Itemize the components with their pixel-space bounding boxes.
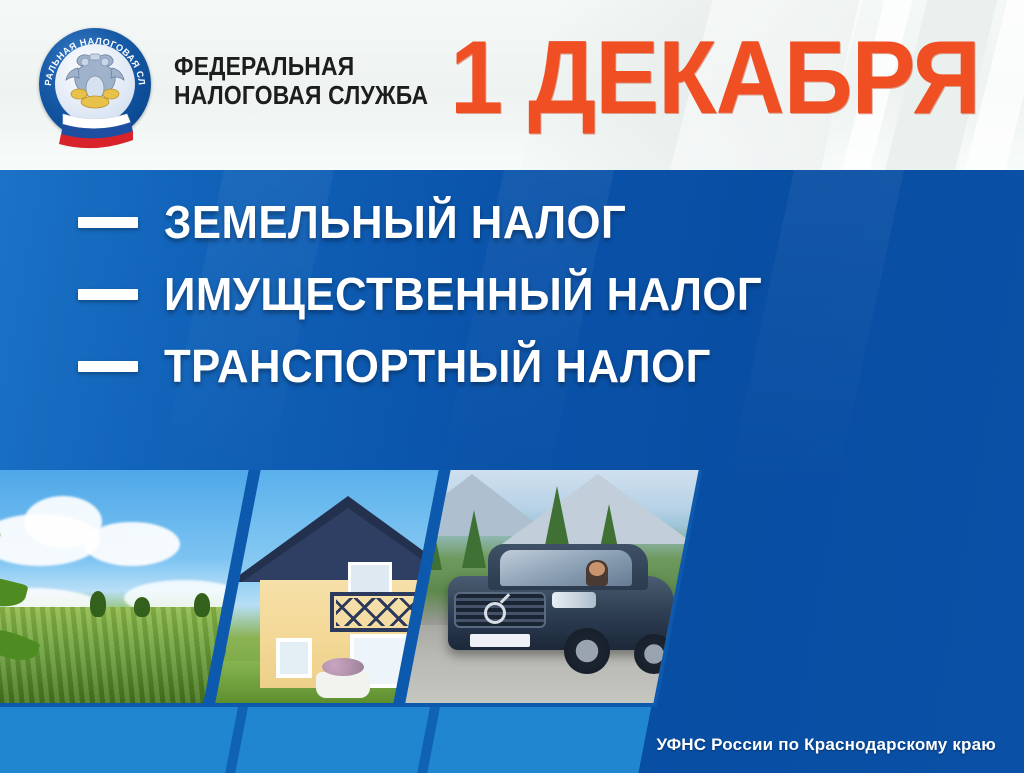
suv-icon — [448, 542, 678, 668]
tax-deadline-poster: ФЕДЕРАЛЬНАЯ НАЛОГОВАЯ СЛУЖБА — [0, 0, 1024, 773]
driver-icon — [586, 560, 608, 586]
dash-icon — [78, 361, 138, 372]
agency-name-line1: ФЕДЕРАЛЬНАЯ — [174, 52, 428, 81]
footer-note: УФНС России по Краснодарскому краю — [656, 735, 996, 755]
agency-name: ФЕДЕРАЛЬНАЯ НАЛОГОВАЯ СЛУЖБА — [174, 52, 428, 110]
tax-list-item: ТРАНСПОРТНЫЙ НАЛОГ — [0, 330, 1024, 402]
tax-item-label: ИМУЩЕСТВЕННЫЙ НАЛОГ — [164, 269, 762, 319]
dash-icon — [78, 289, 138, 300]
car-image — [405, 470, 698, 703]
tax-item-label: ТРАНСПОРТНЫЙ НАЛОГ — [164, 341, 711, 391]
tax-item-label: ЗЕМЕЛЬНЫЙ НАЛОГ — [164, 197, 626, 247]
russian-tricolor-flag-icon — [57, 112, 133, 152]
license-plate — [470, 634, 530, 647]
fts-emblem-icon: ФЕДЕРАЛЬНАЯ НАЛОГОВАЯ СЛУЖБА — [33, 26, 159, 154]
date-headline: 1 ДЕКАБРЯ — [444, 18, 987, 138]
tax-list-item: ИМУЩЕСТВЕННЫЙ НАЛОГ — [0, 258, 1024, 330]
tax-list-item: ЗЕМЕЛЬНЫЙ НАЛОГ — [0, 186, 1024, 258]
footer-band — [0, 703, 652, 773]
dash-icon — [78, 217, 138, 228]
car-photo — [405, 470, 698, 703]
volvo-badge-icon — [484, 602, 506, 624]
agency-name-line2: НАЛОГОВАЯ СЛУЖБА — [174, 81, 428, 110]
double-headed-eagle-icon — [63, 50, 127, 112]
photo-strip — [0, 470, 1024, 773]
poster-header: ФЕДЕРАЛЬНАЯ НАЛОГОВАЯ СЛУЖБА — [0, 0, 1024, 170]
tax-list: ЗЕМЕЛЬНЫЙ НАЛОГ ИМУЩЕСТВЕННЫЙ НАЛОГ ТРАН… — [0, 186, 1024, 402]
